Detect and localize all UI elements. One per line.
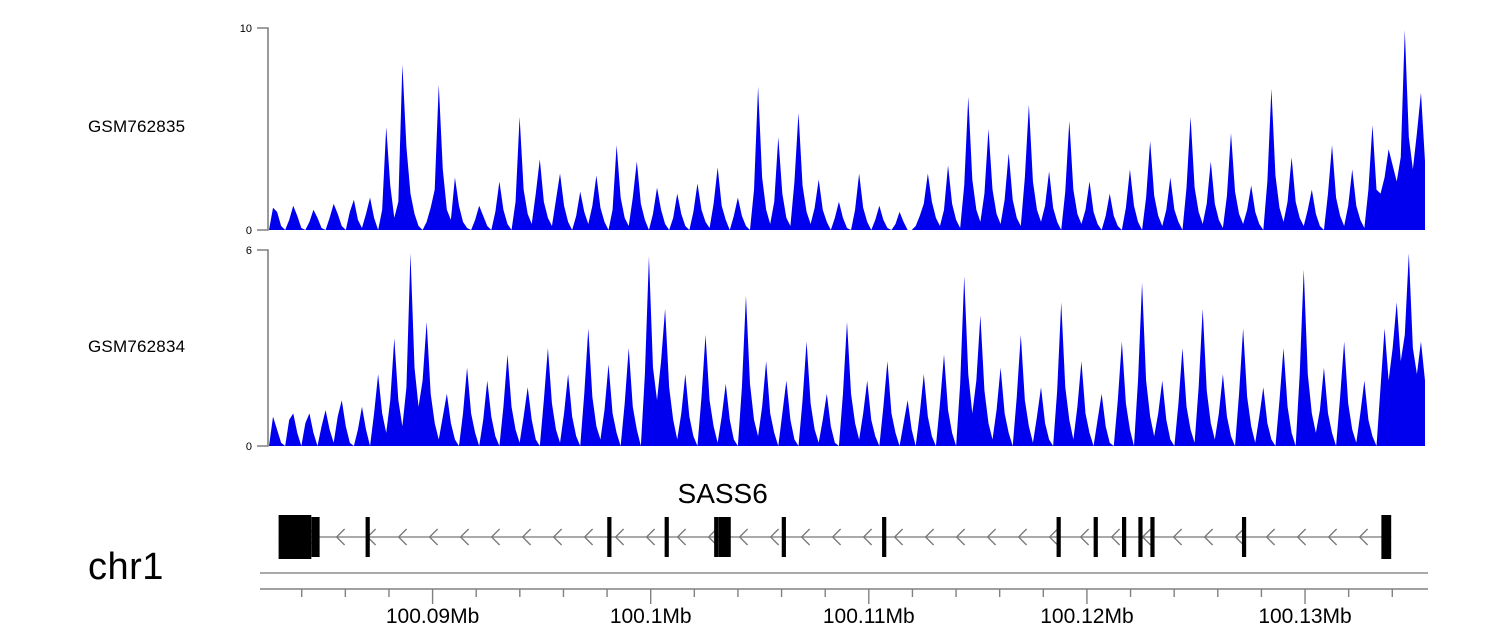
gene-exon[interactable] xyxy=(311,517,315,557)
gene-exon[interactable] xyxy=(782,517,786,557)
ruler-tick-label: 100.13Mb xyxy=(1258,605,1351,628)
y-axis-min-gsm762835: 0 xyxy=(246,225,252,237)
ruler-tick-labels: 100.09Mb100.1Mb100.11Mb100.12Mb100.13Mb xyxy=(386,605,1352,628)
genome-browser-view: GSM762835 GSM762834 chr1 10 0 6 0 SASS6 xyxy=(0,0,1500,640)
gene-terminal-block[interactable] xyxy=(1381,515,1391,559)
gene-exon[interactable] xyxy=(882,517,886,557)
y-axis-gsm762834 xyxy=(257,250,268,446)
tracks-canvas: 10 0 6 0 SASS6 100.09Mb100.1Mb100.11Mb10… xyxy=(0,0,1500,640)
y-axis-min-gsm762834: 0 xyxy=(246,441,252,453)
ruler-tick-label: 100.12Mb xyxy=(1040,605,1133,628)
gene-model-body[interactable] xyxy=(279,515,1392,559)
ruler-tick-label: 100.09Mb xyxy=(386,605,479,628)
genomic-ruler: 100.09Mb100.1Mb100.11Mb100.12Mb100.13Mb xyxy=(260,589,1428,628)
coverage-track-gsm762835: 10 0 xyxy=(240,23,1425,237)
ruler-tick-label: 100.1Mb xyxy=(610,605,692,628)
y-axis-max-gsm762834: 6 xyxy=(246,245,252,257)
coverage-track-gsm762834: 6 0 xyxy=(246,245,1425,453)
gene-exon[interactable] xyxy=(1150,517,1154,557)
gene-exon[interactable] xyxy=(607,517,611,557)
coverage-area-gsm762834 xyxy=(269,253,1425,446)
ruler-ticks xyxy=(302,589,1393,604)
gene-exon[interactable] xyxy=(665,517,669,557)
y-axis-max-gsm762835: 10 xyxy=(240,23,252,35)
gene-exon[interactable] xyxy=(315,517,319,557)
gene-exon[interactable] xyxy=(714,517,718,557)
gene-exon[interactable] xyxy=(1242,517,1246,557)
gene-exon[interactable] xyxy=(1122,517,1126,557)
gene-utr-block[interactable] xyxy=(279,515,312,559)
gene-exon[interactable] xyxy=(1138,517,1142,557)
coverage-area-gsm762835 xyxy=(269,30,1425,230)
gene-exon[interactable] xyxy=(1057,517,1061,557)
gene-exon[interactable] xyxy=(366,517,370,557)
gene-name-label: SASS6 xyxy=(678,478,768,509)
ruler-tick-label: 100.11Mb xyxy=(823,605,915,628)
gene-annotation-track[interactable]: SASS6 xyxy=(279,478,1392,559)
gene-exon[interactable] xyxy=(1094,517,1098,557)
y-axis-gsm762835 xyxy=(257,28,268,230)
gene-exon[interactable] xyxy=(727,517,731,557)
